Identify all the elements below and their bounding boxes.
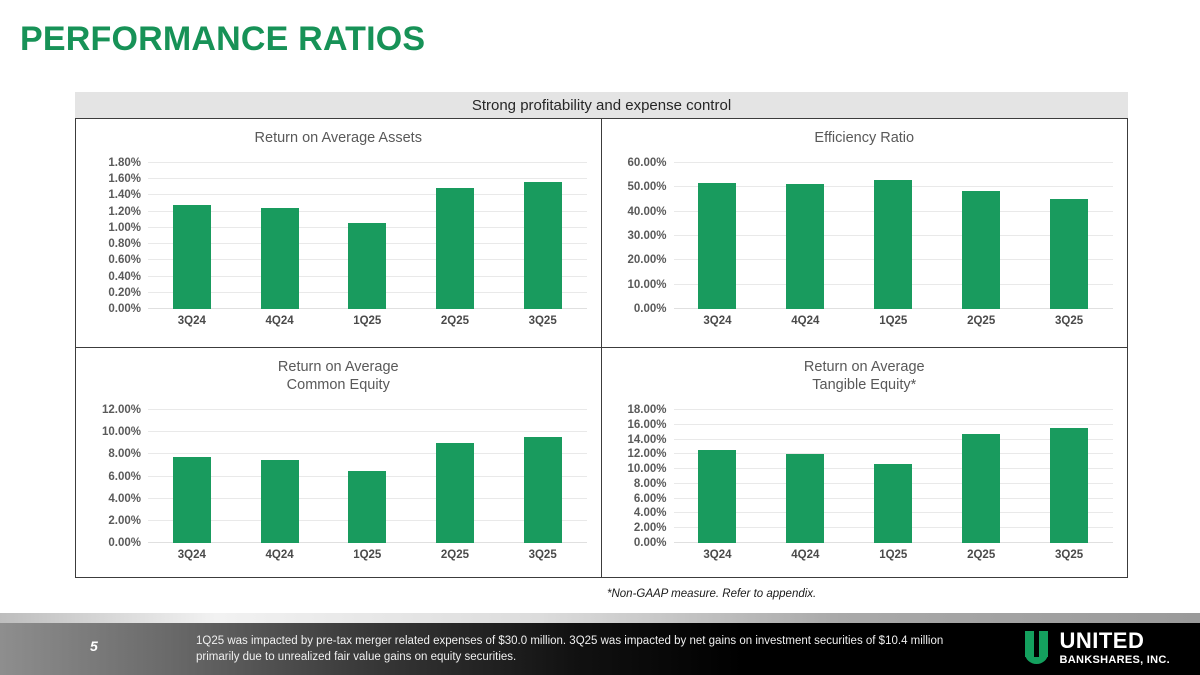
chart-panel-return-on-average-tangible-equity: Return on Average Tangible Equity* 0.00%…	[602, 348, 1128, 577]
x-axis-tick-label: 4Q24	[236, 315, 324, 327]
bar-4Q24	[261, 208, 299, 309]
y-axis-tick-label: 30.00%	[627, 230, 666, 242]
bar-slot	[499, 163, 587, 309]
y-axis-tick-label: 2.00%	[634, 522, 667, 534]
bar-1Q25	[348, 223, 386, 309]
bar-slot	[323, 163, 411, 309]
y-axis-tick-label: 0.20%	[108, 287, 141, 299]
bar-slot	[411, 163, 499, 309]
x-axis-labels: 3Q244Q241Q252Q253Q25	[674, 543, 1114, 561]
bar-2Q25	[436, 188, 474, 309]
y-axis-tick-label: 0.00%	[634, 537, 667, 549]
bar-slot	[674, 410, 762, 543]
x-axis-labels: 3Q244Q241Q252Q253Q25	[674, 309, 1114, 327]
plot-area: 0.00%2.00%4.00%6.00%8.00%10.00%12.00%14.…	[674, 410, 1114, 543]
bar-slot	[148, 410, 236, 543]
y-axis-tick-label: 20.00%	[627, 254, 666, 266]
y-axis-tick-label: 10.00%	[627, 463, 666, 475]
x-axis-tick-label: 4Q24	[236, 549, 324, 561]
x-axis-tick-label: 3Q25	[499, 315, 587, 327]
plot-area: 0.00%10.00%20.00%30.00%40.00%50.00%60.00…	[674, 163, 1114, 309]
x-axis-tick-label: 4Q24	[761, 315, 849, 327]
footer-disclaimer: 1Q25 was impacted by pre-tax merger rela…	[196, 634, 986, 665]
y-axis-tick-label: 0.00%	[108, 537, 141, 549]
section-banner: Strong profitability and expense control	[75, 92, 1128, 118]
logo-company-name: UNITED	[1059, 630, 1170, 652]
bar-3Q25	[524, 182, 562, 309]
y-axis-tick-label: 0.80%	[108, 238, 141, 250]
chart-panel-return-on-average-assets: Return on Average Assets 0.00%0.20%0.40%…	[76, 119, 602, 348]
y-axis-tick-label: 8.00%	[108, 448, 141, 460]
bar-slot	[937, 410, 1025, 543]
bar-4Q24	[786, 454, 824, 543]
bar-slot	[236, 163, 324, 309]
footer-gradient-strip	[0, 613, 1200, 623]
bar-slot	[761, 410, 849, 543]
y-axis-tick-label: 1.20%	[108, 206, 141, 218]
y-axis-tick-label: 10.00%	[102, 426, 141, 438]
bar-4Q24	[786, 184, 824, 309]
bar-1Q25	[874, 464, 912, 543]
y-axis-tick-label: 1.60%	[108, 173, 141, 185]
x-axis-tick-label: 1Q25	[323, 315, 411, 327]
x-axis-tick-label: 2Q25	[937, 549, 1025, 561]
bar-2Q25	[436, 443, 474, 543]
bar-slot	[1025, 163, 1113, 309]
bar-3Q24	[173, 205, 211, 309]
x-axis-tick-label: 4Q24	[761, 549, 849, 561]
x-axis-tick-label: 3Q24	[148, 549, 236, 561]
bar-3Q24	[173, 457, 211, 543]
page-number: 5	[90, 638, 98, 654]
bar-2Q25	[962, 191, 1000, 309]
bar-3Q25	[524, 437, 562, 543]
bar-slot	[849, 163, 937, 309]
bar-1Q25	[348, 471, 386, 543]
y-axis-tick-label: 60.00%	[627, 157, 666, 169]
bar-3Q24	[698, 183, 736, 309]
x-axis-tick-label: 1Q25	[849, 315, 937, 327]
y-axis-tick-label: 10.00%	[627, 279, 666, 291]
y-axis-tick-label: 4.00%	[108, 493, 141, 505]
bar-slot	[148, 163, 236, 309]
bar-series	[674, 410, 1114, 543]
y-axis-tick-label: 8.00%	[634, 478, 667, 490]
y-axis-tick-label: 16.00%	[627, 419, 666, 431]
y-axis-tick-label: 1.80%	[108, 157, 141, 169]
bar-series	[148, 163, 587, 309]
logo-company-sub: BANKSHARES, INC.	[1059, 655, 1170, 666]
y-axis-tick-label: 1.40%	[108, 189, 141, 201]
united-u-mark-icon	[1024, 631, 1050, 665]
x-axis-tick-label: 3Q25	[1025, 549, 1113, 561]
footnote: *Non-GAAP measure. Refer to appendix.	[607, 588, 816, 600]
chart-panel-return-on-average-common-equity: Return on Average Common Equity 0.00%2.0…	[76, 348, 602, 577]
x-axis-tick-label: 1Q25	[849, 549, 937, 561]
x-axis-tick-label: 2Q25	[411, 315, 499, 327]
bar-slot	[323, 410, 411, 543]
y-axis-tick-label: 12.00%	[627, 448, 666, 460]
plot-area: 0.00%0.20%0.40%0.60%0.80%1.00%1.20%1.40%…	[148, 163, 587, 309]
bar-1Q25	[874, 180, 912, 309]
y-axis-tick-label: 2.00%	[108, 515, 141, 527]
x-axis-tick-label: 3Q25	[499, 549, 587, 561]
x-axis-tick-label: 3Q24	[148, 315, 236, 327]
x-axis-tick-label: 3Q24	[674, 549, 762, 561]
bar-slot	[937, 163, 1025, 309]
bar-3Q24	[698, 450, 736, 543]
y-axis-tick-label: 0.60%	[108, 254, 141, 266]
y-axis-tick-label: 0.00%	[634, 303, 667, 315]
bar-4Q24	[261, 460, 299, 543]
y-axis-tick-label: 0.40%	[108, 271, 141, 283]
x-axis-labels: 3Q244Q241Q252Q253Q25	[148, 543, 587, 561]
bar-series	[674, 163, 1114, 309]
section-banner-label: Strong profitability and expense control	[472, 97, 731, 114]
x-axis-tick-label: 1Q25	[323, 549, 411, 561]
y-axis-tick-label: 40.00%	[627, 206, 666, 218]
bar-slot	[1025, 410, 1113, 543]
y-axis-tick-label: 18.00%	[627, 404, 666, 416]
company-logo: UNITED BANKSHARES, INC.	[1024, 630, 1170, 666]
bar-3Q25	[1050, 199, 1088, 309]
y-axis-tick-label: 14.00%	[627, 434, 666, 446]
plot-area: 0.00%2.00%4.00%6.00%8.00%10.00%12.00%3Q2…	[148, 410, 587, 543]
x-axis-tick-label: 2Q25	[937, 315, 1025, 327]
bar-3Q25	[1050, 428, 1088, 543]
bar-slot	[411, 410, 499, 543]
bar-slot	[499, 410, 587, 543]
charts-grid: Return on Average Assets 0.00%0.20%0.40%…	[75, 118, 1128, 578]
bar-slot	[236, 410, 324, 543]
y-axis-tick-label: 6.00%	[108, 471, 141, 483]
bar-slot	[849, 410, 937, 543]
x-axis-labels: 3Q244Q241Q252Q253Q25	[148, 309, 587, 327]
bar-series	[148, 410, 587, 543]
x-axis-tick-label: 3Q24	[674, 315, 762, 327]
y-axis-tick-label: 1.00%	[108, 222, 141, 234]
y-axis-tick-label: 4.00%	[634, 507, 667, 519]
y-axis-tick-label: 6.00%	[634, 493, 667, 505]
bar-2Q25	[962, 434, 1000, 543]
chart-panel-efficiency-ratio: Efficiency Ratio 0.00%10.00%20.00%30.00%…	[602, 119, 1128, 348]
bar-slot	[674, 163, 762, 309]
y-axis-tick-label: 50.00%	[627, 181, 666, 193]
x-axis-tick-label: 2Q25	[411, 549, 499, 561]
x-axis-tick-label: 3Q25	[1025, 315, 1113, 327]
bar-slot	[761, 163, 849, 309]
y-axis-tick-label: 12.00%	[102, 404, 141, 416]
page-title: PERFORMANCE RATIOS	[20, 20, 425, 59]
y-axis-tick-label: 0.00%	[108, 303, 141, 315]
